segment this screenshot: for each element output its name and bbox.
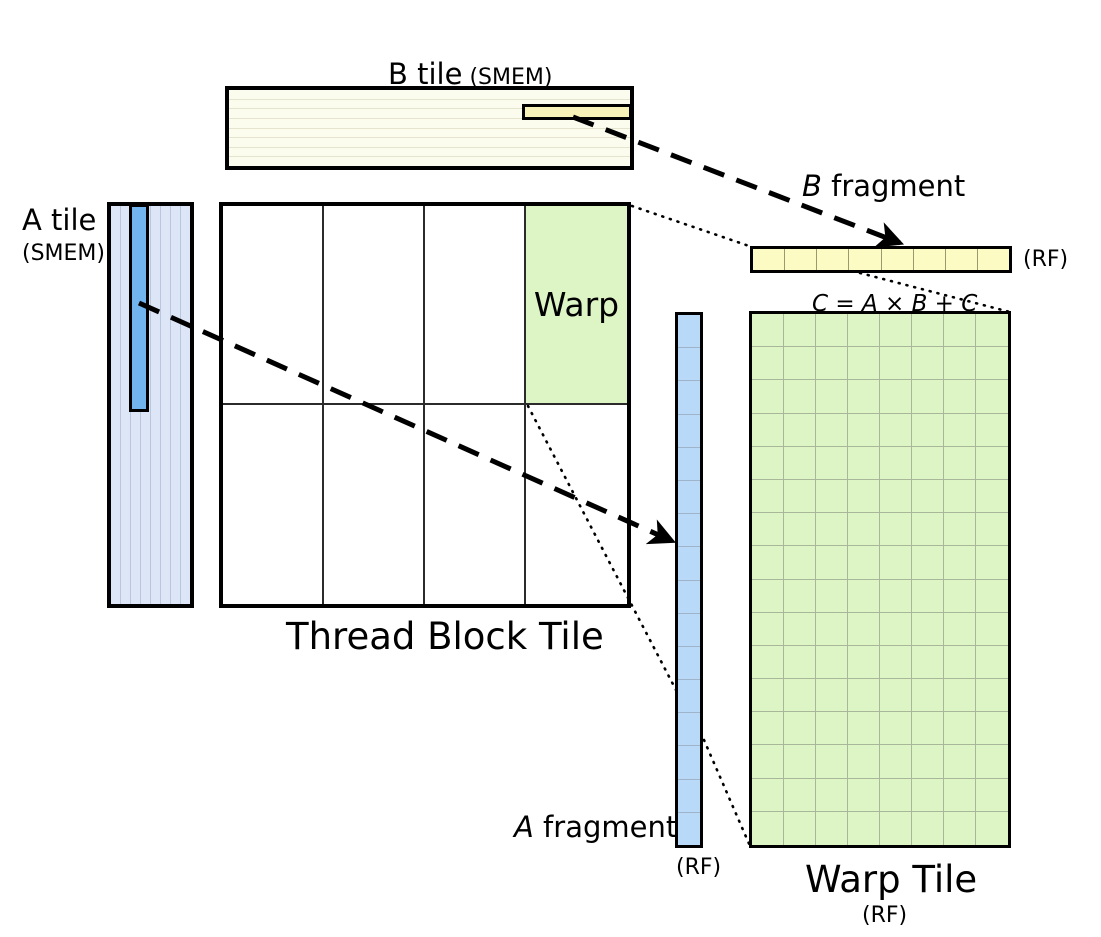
tb-cell[interactable] bbox=[223, 405, 324, 604]
b-tile-stripe bbox=[229, 157, 630, 166]
a-tile-stripe bbox=[181, 206, 190, 604]
warp-tile-cell bbox=[880, 447, 912, 480]
warp-cell-label: Warp bbox=[534, 285, 619, 324]
a-fragment-cell bbox=[678, 448, 700, 481]
thread-block-tile-box[interactable]: Warp bbox=[219, 202, 631, 608]
warp-tile-cell bbox=[976, 580, 1008, 613]
b-fragment-word: fragment bbox=[822, 169, 965, 203]
warp-tile-cell bbox=[752, 414, 784, 447]
warp-tile-cell bbox=[976, 679, 1008, 712]
warp-tile-cell bbox=[976, 712, 1008, 745]
warp-tile-cell bbox=[816, 812, 848, 845]
b-fragment-cell bbox=[882, 249, 914, 270]
a-fragment-cell bbox=[678, 713, 700, 746]
warp-tile-cell bbox=[848, 679, 880, 712]
a-fragment-word: fragment bbox=[534, 810, 677, 844]
warp-tile-cell bbox=[848, 580, 880, 613]
tb-cell[interactable] bbox=[324, 405, 425, 604]
warp-tile-cell bbox=[912, 779, 944, 812]
warp-tile-cell bbox=[912, 613, 944, 646]
warp-tile-cell bbox=[880, 314, 912, 347]
warp-tile-cell bbox=[816, 380, 848, 413]
warp-tile-cell bbox=[976, 347, 1008, 380]
warp-tile-cell bbox=[880, 812, 912, 845]
warp-tile-cell bbox=[880, 745, 912, 778]
warp-tile-cell bbox=[784, 646, 816, 679]
warp-tile-cell bbox=[752, 380, 784, 413]
warp-tile-cell bbox=[976, 314, 1008, 347]
a-fragment-cell bbox=[678, 680, 700, 713]
warp-tile-cell bbox=[784, 779, 816, 812]
warp-tile-cell bbox=[944, 414, 976, 447]
warp-tile-cell bbox=[784, 414, 816, 447]
warp-tile-cell bbox=[784, 812, 816, 845]
warp-tile-cell bbox=[912, 679, 944, 712]
warp-tile-cell bbox=[880, 779, 912, 812]
a-tile-stripe bbox=[161, 206, 171, 604]
warp-tile-cell bbox=[752, 314, 784, 347]
warp-tile-cell bbox=[848, 513, 880, 546]
warp-tile-cell bbox=[848, 745, 880, 778]
warp-tile-cell bbox=[976, 646, 1008, 679]
b-tile-box[interactable] bbox=[225, 86, 634, 170]
tb-cell[interactable] bbox=[425, 405, 526, 604]
warp-tile-cell bbox=[848, 613, 880, 646]
warp-tile-cell bbox=[944, 347, 976, 380]
warp-tile-cell bbox=[912, 414, 944, 447]
warp-tile-cell bbox=[944, 745, 976, 778]
warp-tile-cell bbox=[976, 745, 1008, 778]
b-fragment-cell bbox=[785, 249, 817, 270]
warp-tile-cell bbox=[848, 779, 880, 812]
thread-block-grid: Warp bbox=[223, 206, 627, 604]
warp-tile-cell bbox=[944, 679, 976, 712]
diagram-canvas: B tile(SMEM) A tile (SMEM) bbox=[0, 0, 1101, 937]
b-fragment-cell bbox=[978, 249, 1009, 270]
warp-tile-cell bbox=[912, 580, 944, 613]
warp-tile-cell bbox=[944, 613, 976, 646]
b-tile-caption: B tile(SMEM) bbox=[388, 60, 552, 89]
b-fragment-cell bbox=[914, 249, 946, 270]
a-fragment-memory: (RF) bbox=[676, 857, 721, 879]
warp-tile-cell bbox=[784, 712, 816, 745]
warp-tile-cell bbox=[816, 347, 848, 380]
warp-tile-cell bbox=[848, 812, 880, 845]
a-tile-stripe bbox=[111, 206, 121, 604]
warp-tile-cell bbox=[912, 513, 944, 546]
warp-tile-cell bbox=[976, 480, 1008, 513]
warp-tile-cell bbox=[912, 380, 944, 413]
warp-tile-cell bbox=[912, 480, 944, 513]
b-fragment-cells bbox=[753, 249, 1009, 270]
warp-tile-cell bbox=[880, 613, 912, 646]
warp-tile-cell bbox=[752, 745, 784, 778]
a-fragment-cell bbox=[678, 547, 700, 580]
warp-tile-cell bbox=[944, 812, 976, 845]
warp-tile-cell bbox=[880, 380, 912, 413]
warp-tile-cell bbox=[752, 646, 784, 679]
warp-tile-cell bbox=[784, 314, 816, 347]
warp-tile-cell bbox=[880, 580, 912, 613]
warp-tile-cell bbox=[784, 580, 816, 613]
warp-tile-cell bbox=[880, 712, 912, 745]
warp-tile-cell bbox=[880, 347, 912, 380]
tb-cell[interactable] bbox=[425, 206, 526, 405]
warp-tile-cell bbox=[912, 314, 944, 347]
warp-tile-cell bbox=[784, 679, 816, 712]
warp-tile-cell bbox=[784, 613, 816, 646]
warp-tile-cell bbox=[816, 580, 848, 613]
b-fragment-symbol: B bbox=[802, 169, 822, 203]
tb-cell[interactable] bbox=[324, 206, 425, 405]
b-fragment-cell bbox=[946, 249, 978, 270]
b-dotted-connector-top bbox=[632, 206, 752, 247]
warp-tile-cell bbox=[912, 745, 944, 778]
warp-tile-cell bbox=[752, 812, 784, 845]
warp-tile-cell bbox=[752, 679, 784, 712]
warp-tile-cell bbox=[752, 513, 784, 546]
warp-tile-cell bbox=[976, 613, 1008, 646]
warp-tile-cell bbox=[848, 447, 880, 480]
a-tile-stripe bbox=[171, 206, 181, 604]
tb-cell-warp[interactable]: Warp bbox=[526, 206, 627, 405]
b-fragment-caption: B fragment bbox=[802, 172, 965, 201]
warp-tile-cell bbox=[784, 380, 816, 413]
b-fragment-cell bbox=[753, 249, 785, 270]
warp-tile-cell bbox=[944, 779, 976, 812]
warp-tile-cell bbox=[944, 513, 976, 546]
warp-tile-cell bbox=[880, 480, 912, 513]
a-fragment-cell bbox=[678, 348, 700, 381]
warp-tile-cell bbox=[816, 745, 848, 778]
b-tile-stripe bbox=[229, 129, 630, 139]
b-fragment-cell bbox=[849, 249, 881, 270]
a-fragment-cell bbox=[678, 581, 700, 614]
warp-tile-cell bbox=[752, 779, 784, 812]
warp-tile-cell bbox=[784, 447, 816, 480]
warp-tile-cell bbox=[816, 779, 848, 812]
thread-block-tile-caption: Thread Block Tile bbox=[286, 618, 604, 655]
a-fragment-cell bbox=[678, 315, 700, 348]
a-dotted-connector-bottom bbox=[704, 740, 750, 846]
warp-tile-cell bbox=[944, 546, 976, 579]
warp-tile-cell bbox=[784, 513, 816, 546]
warp-tile-cell bbox=[944, 447, 976, 480]
warp-tile-cell bbox=[816, 447, 848, 480]
b-fragment-memory: (RF) bbox=[1023, 249, 1068, 271]
warp-tile-cell bbox=[912, 712, 944, 745]
b-tile-highlight-row[interactable] bbox=[522, 104, 632, 120]
warp-tile-cell bbox=[816, 513, 848, 546]
warp-tile-memory: (RF) bbox=[862, 905, 907, 927]
a-fragment-cell bbox=[678, 415, 700, 448]
warp-tile-cell bbox=[880, 546, 912, 579]
warp-tile-cell bbox=[944, 646, 976, 679]
warp-tile-cell bbox=[976, 447, 1008, 480]
a-fragment-cell bbox=[678, 381, 700, 414]
warp-tile-cell bbox=[816, 679, 848, 712]
a-tile-highlight-column[interactable] bbox=[129, 204, 149, 412]
b-fragment-cell bbox=[817, 249, 849, 270]
warp-tile-cell bbox=[976, 414, 1008, 447]
warp-tile-cell bbox=[752, 347, 784, 380]
warp-tile-cell bbox=[976, 513, 1008, 546]
warp-tile-cell bbox=[880, 414, 912, 447]
warp-tile-cell bbox=[784, 480, 816, 513]
warp-tile-cell bbox=[848, 480, 880, 513]
warp-tile-cell bbox=[752, 447, 784, 480]
a-tile-box[interactable] bbox=[107, 202, 194, 608]
warp-tile-cell bbox=[816, 546, 848, 579]
b-tile-stripes bbox=[229, 90, 630, 166]
warp-tile-cell bbox=[848, 646, 880, 679]
warp-tile-cell bbox=[944, 580, 976, 613]
warp-tile-cell bbox=[848, 380, 880, 413]
b-tile-stripe bbox=[229, 119, 630, 129]
warp-tile-cell bbox=[912, 447, 944, 480]
b-tile-stripe bbox=[229, 90, 630, 100]
warp-tile-cell bbox=[944, 712, 976, 745]
warp-tile-cell bbox=[816, 712, 848, 745]
warp-tile-cell bbox=[816, 480, 848, 513]
b-fragment-box[interactable] bbox=[750, 246, 1012, 273]
a-fragment-cell bbox=[678, 614, 700, 647]
warp-tile-cell bbox=[784, 745, 816, 778]
warp-tile-cell bbox=[880, 513, 912, 546]
warp-tile-cell bbox=[848, 414, 880, 447]
a-fragment-cell bbox=[678, 481, 700, 514]
warp-tile-cell bbox=[880, 646, 912, 679]
warp-tile-cell bbox=[944, 480, 976, 513]
warp-tile-cell bbox=[816, 646, 848, 679]
warp-tile-cell bbox=[816, 314, 848, 347]
tb-cell[interactable] bbox=[223, 206, 324, 405]
warp-tile-cell bbox=[912, 347, 944, 380]
warp-tile-cell bbox=[880, 679, 912, 712]
b-tile-stripe bbox=[229, 148, 630, 158]
a-fragment-cell bbox=[678, 780, 700, 813]
warp-tile-cell bbox=[816, 613, 848, 646]
warp-tile-cell bbox=[976, 812, 1008, 845]
a-fragment-caption: A fragment bbox=[514, 813, 677, 842]
warp-tile-cell bbox=[784, 347, 816, 380]
a-fragment-symbol: A bbox=[514, 810, 534, 844]
warp-tile-cell bbox=[848, 314, 880, 347]
b-tile-stripe bbox=[229, 138, 630, 148]
a-tile-memory: (SMEM) bbox=[22, 243, 105, 265]
a-fragment-cell bbox=[678, 647, 700, 680]
a-fragment-cell bbox=[678, 514, 700, 547]
a-fragment-cell bbox=[678, 746, 700, 779]
tb-cell[interactable] bbox=[526, 405, 627, 604]
warp-tile-cell bbox=[912, 812, 944, 845]
warp-tile-cell bbox=[976, 546, 1008, 579]
a-tile-stripe bbox=[151, 206, 161, 604]
warp-tile-cell bbox=[976, 779, 1008, 812]
warp-tile-cell bbox=[848, 347, 880, 380]
a-fragment-cells bbox=[678, 315, 700, 845]
a-fragment-cell bbox=[678, 813, 700, 845]
warp-tile-cell bbox=[816, 414, 848, 447]
warp-tile-cell bbox=[784, 546, 816, 579]
warp-tile-cell bbox=[752, 712, 784, 745]
warp-tile-cell bbox=[752, 480, 784, 513]
a-tile-stripes bbox=[111, 206, 190, 604]
warp-tile-cell bbox=[752, 546, 784, 579]
warp-tile-grid bbox=[752, 314, 1008, 845]
a-fragment-box[interactable] bbox=[675, 312, 703, 848]
warp-tile-cell bbox=[848, 546, 880, 579]
warp-tile-cell bbox=[912, 546, 944, 579]
warp-tile-box[interactable] bbox=[749, 311, 1011, 848]
warp-tile-cell bbox=[752, 613, 784, 646]
a-tile-label: A tile bbox=[22, 206, 96, 235]
warp-tile-cell bbox=[944, 314, 976, 347]
warp-tile-cell bbox=[944, 380, 976, 413]
warp-tile-cell bbox=[848, 712, 880, 745]
warp-tile-cell bbox=[752, 580, 784, 613]
warp-tile-caption: Warp Tile bbox=[805, 861, 977, 898]
warp-tile-cell bbox=[912, 646, 944, 679]
warp-tile-cell bbox=[976, 380, 1008, 413]
